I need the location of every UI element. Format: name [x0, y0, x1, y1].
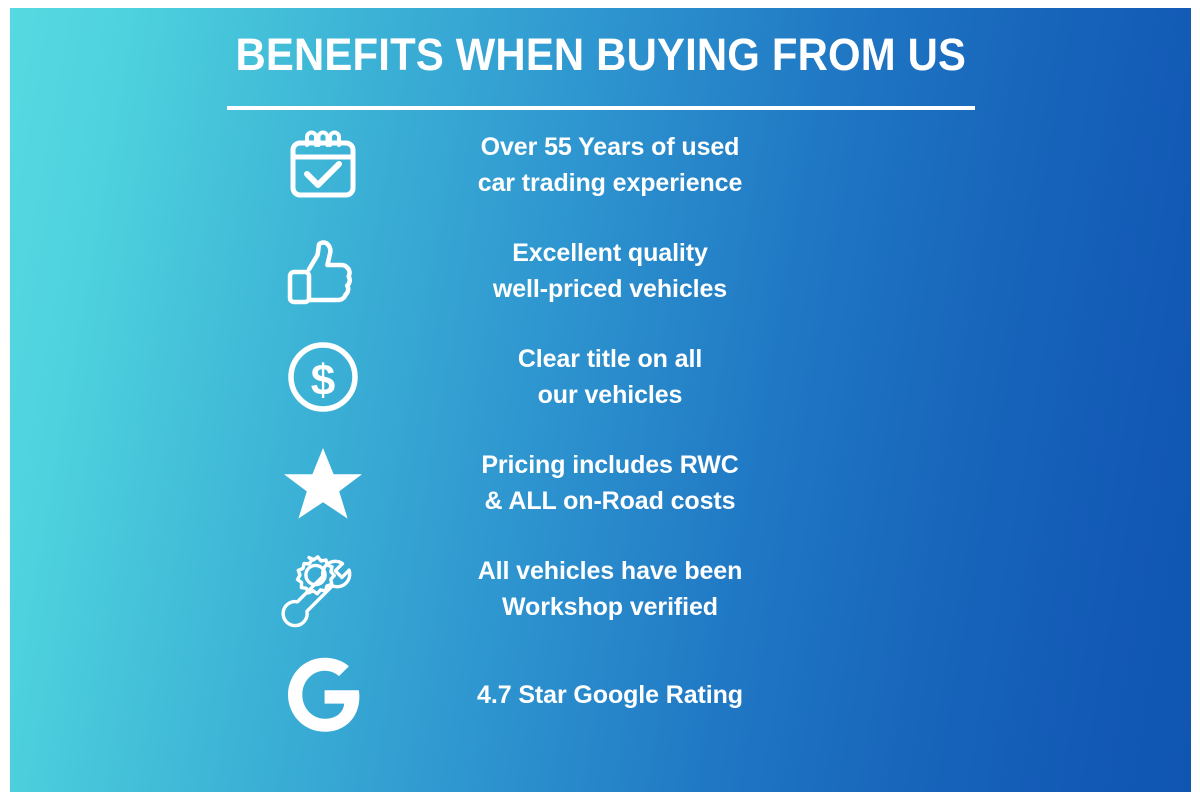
benefit-line-1: Excellent quality: [410, 235, 810, 271]
benefit-text: Excellent quality well-priced vehicles: [410, 235, 810, 307]
benefit-line-2: well-priced vehicles: [410, 271, 810, 307]
benefit-line-1: All vehicles have been: [410, 553, 810, 589]
page-title: BENEFITS WHEN BUYING FROM US: [235, 30, 966, 80]
list-item: Pricing includes RWC & ALL on-Road costs: [10, 430, 1191, 536]
thumbs-up-icon: [278, 226, 368, 316]
benefit-line-1: 4.7 Star Google Rating: [410, 677, 810, 713]
benefits-list: Over 55 Years of used car trading experi…: [10, 112, 1191, 748]
star-icon: [278, 438, 368, 528]
list-item: All vehicles have been Workshop verified: [10, 536, 1191, 642]
list-item: 4.7 Star Google Rating: [10, 642, 1191, 748]
title-underline: [227, 106, 975, 110]
benefit-text: Clear title on all our vehicles: [410, 341, 810, 413]
benefit-line-1: Over 55 Years of used: [410, 129, 810, 165]
benefit-line-1: Pricing includes RWC: [410, 447, 810, 483]
list-item: $ Clear title on all our vehicles: [10, 324, 1191, 430]
calendar-check-icon: [278, 120, 368, 210]
benefit-line-2: car trading experience: [410, 165, 810, 201]
benefit-text: Pricing includes RWC & ALL on-Road costs: [410, 447, 810, 519]
benefit-line-2: Workshop verified: [410, 589, 810, 625]
benefit-line-2: our vehicles: [410, 377, 810, 413]
svg-text:$: $: [311, 356, 335, 405]
benefit-line-1: Clear title on all: [410, 341, 810, 377]
title-block: BENEFITS WHEN BUYING FROM US: [10, 30, 1191, 80]
gear-wrench-icon: [278, 544, 368, 634]
dollar-circle-icon: $: [278, 332, 368, 422]
benefit-text: All vehicles have been Workshop verified: [410, 553, 810, 625]
benefits-poster: BENEFITS WHEN BUYING FROM US Over 55 Yea…: [10, 8, 1191, 792]
benefit-line-2: & ALL on-Road costs: [410, 483, 810, 519]
google-g-icon: [278, 650, 368, 740]
list-item: Excellent quality well-priced vehicles: [10, 218, 1191, 324]
benefit-text: 4.7 Star Google Rating: [410, 677, 810, 713]
benefit-text: Over 55 Years of used car trading experi…: [410, 129, 810, 201]
list-item: Over 55 Years of used car trading experi…: [10, 112, 1191, 218]
